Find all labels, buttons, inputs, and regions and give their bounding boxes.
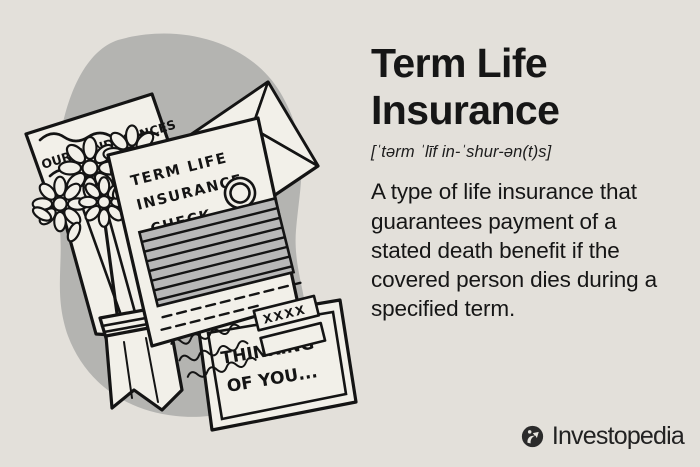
definition-text: A type of life insurance that guarantees… [371,177,671,323]
illustration: .pap { fill:#f2f0e9; stroke:#141414; str… [0,18,360,448]
investopedia-wordmark: Investopedia [552,424,684,449]
investopedia-logo-icon [520,424,545,449]
phonetic-pronunciation: [ˈtərm ˈlīf in-ˈshur-ən(t)s] [371,143,691,162]
infographic-card: .pap { fill:#f2f0e9; stroke:#141414; str… [0,0,700,467]
investopedia-logo: Investopedia [520,424,684,449]
definition-block: Term Life Insurance [ˈtərm ˈlīf in-ˈshur… [371,40,691,324]
page-title: Term Life Insurance [371,40,621,133]
